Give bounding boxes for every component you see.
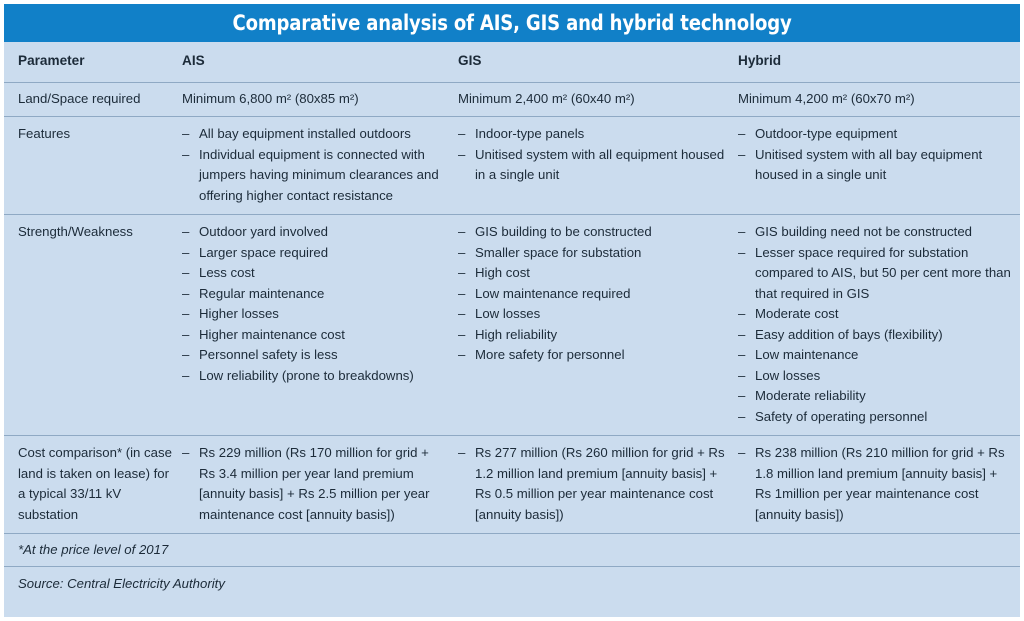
dash-list: Rs 238 million (Rs 210 million for grid … — [738, 443, 1012, 525]
list-item: GIS building to be constructed — [458, 222, 728, 243]
cell-land-space-gis: Minimum 2,400 m² (60x40 m²) — [458, 83, 738, 117]
row-label-features: Features — [4, 117, 182, 214]
figure-title: Comparative analysis of AIS, GIS and hyb… — [232, 11, 791, 35]
cell-cost-ais: Rs 229 million (Rs 170 million for grid … — [182, 436, 458, 533]
list-item: Rs 229 million (Rs 170 million for grid … — [182, 443, 448, 525]
list-item: Outdoor yard involved — [182, 222, 448, 243]
table-header-row: Parameter AIS GIS Hybrid — [4, 42, 1020, 82]
column-header-hybrid: Hybrid — [738, 42, 1020, 82]
dash-list: Indoor-type panelsUnitised system with a… — [458, 124, 728, 186]
list-item: Less cost — [182, 263, 448, 284]
table-row-features: Features All bay equipment installed out… — [4, 116, 1020, 214]
list-item: Low maintenance — [738, 345, 1012, 366]
list-item: High reliability — [458, 325, 728, 346]
dash-list: GIS building to be constructedSmaller sp… — [458, 222, 728, 366]
figure-title-bar: Comparative analysis of AIS, GIS and hyb… — [4, 4, 1020, 42]
cell-land-space-hybrid: Minimum 4,200 m² (60x70 m²) — [738, 83, 1020, 117]
row-label-land-space: Land/Space required — [4, 83, 182, 117]
list-item: Safety of operating personnel — [738, 407, 1012, 428]
dash-list: GIS building need not be constructedLess… — [738, 222, 1012, 427]
table-footnote: *At the price level of 2017 — [4, 533, 1020, 566]
list-item: Regular maintenance — [182, 284, 448, 305]
list-item: Low maintenance required — [458, 284, 728, 305]
table-row-land-space: Land/Space required Minimum 6,800 m² (80… — [4, 82, 1020, 117]
cell-features-ais: All bay equipment installed outdoorsIndi… — [182, 117, 458, 214]
list-item: Individual equipment is connected with j… — [182, 145, 448, 207]
dash-list: Outdoor yard involvedLarger space requir… — [182, 222, 448, 386]
cell-strength-gis: GIS building to be constructedSmaller sp… — [458, 215, 738, 435]
column-header-parameter: Parameter — [4, 42, 182, 82]
row-label-cost-comparison: Cost comparison* (in case land is taken … — [4, 436, 182, 533]
list-item: Easy addition of bays (flexibility) — [738, 325, 1012, 346]
dash-list: Rs 229 million (Rs 170 million for grid … — [182, 443, 448, 525]
list-item: Personnel safety is less — [182, 345, 448, 366]
list-item: Unitised system with all bay equipment h… — [738, 145, 1012, 186]
list-item: Indoor-type panels — [458, 124, 728, 145]
list-item: High cost — [458, 263, 728, 284]
list-item: Lesser space required for substation com… — [738, 243, 1012, 305]
column-header-gis: GIS — [458, 42, 738, 82]
dash-list: All bay equipment installed outdoorsIndi… — [182, 124, 448, 206]
table-source: Source: Central Electricity Authority — [4, 566, 1020, 600]
cell-strength-ais: Outdoor yard involvedLarger space requir… — [182, 215, 458, 435]
list-item: Larger space required — [182, 243, 448, 264]
list-item: Rs 277 million (Rs 260 million for grid … — [458, 443, 728, 525]
list-item: Smaller space for substation — [458, 243, 728, 264]
list-item: Low reliability (prone to breakdowns) — [182, 366, 448, 387]
list-item: Low losses — [738, 366, 1012, 387]
list-item: More safety for personnel — [458, 345, 728, 366]
dash-list: Outdoor-type equipmentUnitised system wi… — [738, 124, 1012, 186]
cell-cost-hybrid: Rs 238 million (Rs 210 million for grid … — [738, 436, 1020, 533]
cell-cost-gis: Rs 277 million (Rs 260 million for grid … — [458, 436, 738, 533]
list-item: Unitised system with all equipment house… — [458, 145, 728, 186]
list-item: Moderate cost — [738, 304, 1012, 325]
cell-features-gis: Indoor-type panelsUnitised system with a… — [458, 117, 738, 214]
table-row-strength-weakness: Strength/Weakness Outdoor yard involvedL… — [4, 214, 1020, 435]
cell-land-space-ais: Minimum 6,800 m² (80x85 m²) — [182, 83, 458, 117]
table-row-cost-comparison: Cost comparison* (in case land is taken … — [4, 435, 1020, 533]
list-item: Moderate reliability — [738, 386, 1012, 407]
list-item: Higher maintenance cost — [182, 325, 448, 346]
comparison-table-figure: Comparative analysis of AIS, GIS and hyb… — [0, 0, 1024, 621]
row-label-strength-weakness: Strength/Weakness — [4, 215, 182, 435]
list-item: All bay equipment installed outdoors — [182, 124, 448, 145]
dash-list: Rs 277 million (Rs 260 million for grid … — [458, 443, 728, 525]
cell-features-hybrid: Outdoor-type equipmentUnitised system wi… — [738, 117, 1020, 214]
column-header-ais: AIS — [182, 42, 458, 82]
comparison-table: Parameter AIS GIS Hybrid Land/Space requ… — [4, 42, 1020, 617]
cell-strength-hybrid: GIS building need not be constructedLess… — [738, 215, 1020, 435]
list-item: GIS building need not be constructed — [738, 222, 1012, 243]
list-item: Higher losses — [182, 304, 448, 325]
list-item: Rs 238 million (Rs 210 million for grid … — [738, 443, 1012, 525]
list-item: Low losses — [458, 304, 728, 325]
list-item: Outdoor-type equipment — [738, 124, 1012, 145]
